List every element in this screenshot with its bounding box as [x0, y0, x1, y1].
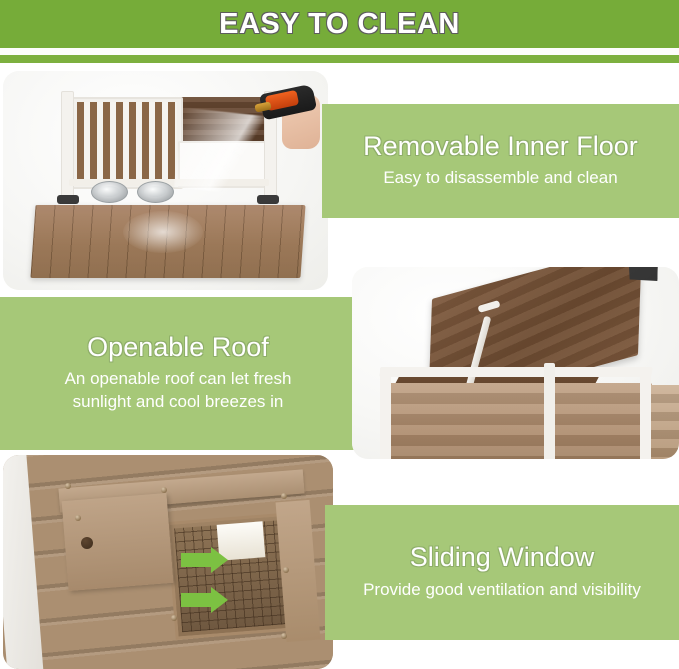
house-top-frame: [379, 367, 653, 377]
house-body: [380, 383, 652, 459]
feature-caption-removable-inner-floor: Removable Inner Floor Easy to disassembl…: [322, 104, 679, 218]
feature-title: Openable Roof: [87, 333, 269, 363]
house-foot-left: [57, 195, 79, 204]
house-front-fence: [71, 97, 183, 189]
screw-icon: [281, 493, 287, 499]
food-bowl-left: [91, 181, 128, 203]
screw-icon: [75, 515, 81, 521]
feature-photo-openable-roof: [352, 267, 679, 459]
header-banner: EASY TO CLEAN: [0, 0, 679, 48]
house-left-frame: [380, 367, 391, 459]
feature-caption-openable-roof: Openable Roof An openable roof can let f…: [0, 297, 356, 450]
screw-icon: [283, 567, 289, 573]
page-title: EASY TO CLEAN: [219, 8, 460, 41]
water-spray-stream: [174, 107, 292, 198]
feature-photo-sliding-window: [3, 455, 333, 669]
infographic-page: EASY TO CLEAN Removable Inner Floo: [0, 0, 679, 669]
header-accent-rule: [0, 55, 679, 63]
screw-icon: [161, 487, 167, 493]
screw-icon: [65, 483, 71, 489]
fence-slats: [77, 102, 177, 184]
house-middle-frame: [544, 363, 555, 459]
sliding-panel: [62, 493, 174, 591]
header-gap-divider: [0, 48, 679, 55]
feature-photo-removable-inner-floor: [3, 71, 328, 290]
slide-direction-arrow-lower: [181, 587, 237, 613]
screw-icon: [281, 633, 287, 639]
feature-subtitle: Provide good ventilation and visibility: [363, 579, 641, 602]
feature-subtitle: Easy to disassemble and clean: [383, 167, 617, 190]
feature-caption-sliding-window: Sliding Window Provide good ventilation …: [325, 505, 679, 640]
water-splash: [123, 211, 203, 253]
feature-subtitle: An openable roof can let fresh sunlight …: [65, 368, 292, 414]
feature-title: Sliding Window: [410, 543, 595, 573]
house-right-frame: [640, 371, 651, 459]
food-bowl-right: [137, 181, 174, 203]
screw-icon: [171, 615, 177, 621]
slide-direction-arrow-upper: [181, 547, 237, 573]
feature-title: Removable Inner Floor: [363, 132, 638, 162]
slider-knob: [81, 537, 93, 549]
